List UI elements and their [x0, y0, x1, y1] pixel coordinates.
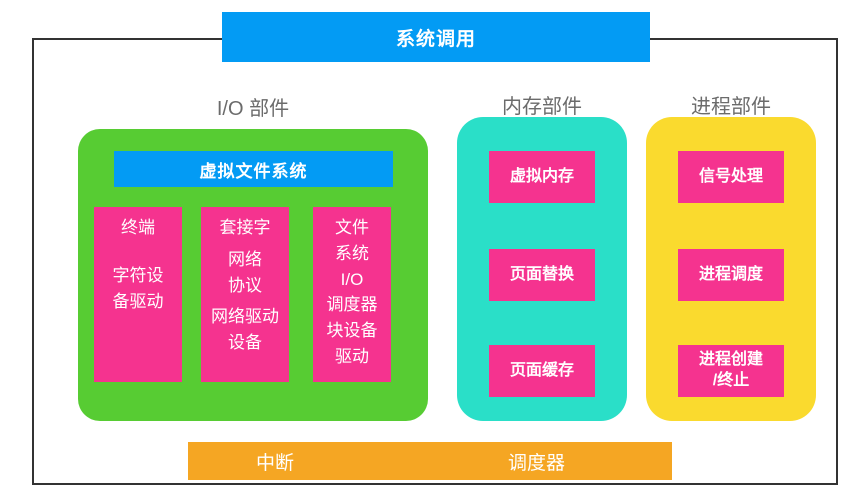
card-label: 信号处理	[699, 167, 763, 188]
page-replacement-card: 页面替换	[489, 249, 595, 301]
io-segment-label: 套接字	[201, 217, 289, 239]
scheduler-label: 调度器	[508, 448, 565, 475]
filesystem-column-card: 文件 系统 I/O 调度器 块设备 驱动	[313, 207, 391, 382]
system-call-label: 系统调用	[396, 24, 476, 51]
virtual-file-system-bar: 虚拟文件系统	[114, 151, 393, 187]
io-segment-label: 网络驱动	[201, 306, 289, 328]
memory-component-caption: 内存部件	[457, 90, 627, 119]
card-label: 页面替换	[510, 265, 574, 286]
card-label: 进程创建/终止	[699, 350, 763, 392]
interrupt-scheduler-bar: 中断 调度器	[188, 442, 672, 480]
io-segment-label: 系统	[313, 243, 391, 265]
signal-handling-card: 信号处理	[678, 151, 784, 203]
io-segment-label: I/O	[313, 269, 391, 291]
io-segment-label: 块设备	[313, 320, 391, 342]
terminal-column-card: 终端 字符设 备驱动	[94, 207, 182, 382]
process-scheduling-card: 进程调度	[678, 249, 784, 301]
card-label: 进程调度	[699, 265, 763, 286]
card-label: 页面缓存	[510, 361, 574, 382]
process-component-caption: 进程部件	[646, 90, 816, 119]
socket-column-card: 套接字 网络 协议 网络驱动 设备	[201, 207, 289, 382]
page-cache-card: 页面缓存	[489, 345, 595, 397]
io-segment-label: 终端	[94, 217, 182, 239]
diagram-canvas: 系统调用 I/O 部件 虚拟文件系统 终端 字符设 备驱动 套接字 网络 协议 …	[0, 0, 859, 500]
io-segment-label: 设备	[201, 332, 289, 354]
interrupt-label: 中断	[256, 448, 294, 475]
virtual-file-system-label: 虚拟文件系统	[200, 157, 308, 182]
io-segment-label: 调度器	[313, 294, 391, 316]
io-segment-label: 字符设	[94, 265, 182, 287]
io-component-caption: I/O 部件	[78, 92, 428, 121]
io-segment-label: 备驱动	[94, 291, 182, 313]
card-label: 虚拟内存	[510, 167, 574, 188]
virtual-memory-card: 虚拟内存	[489, 151, 595, 203]
io-segment-label: 文件	[313, 217, 391, 239]
io-segment-label: 驱动	[313, 346, 391, 368]
process-create-terminate-card: 进程创建/终止	[678, 345, 784, 397]
io-segment-label: 协议	[201, 275, 289, 297]
io-segment-label: 网络	[201, 249, 289, 271]
system-call-bar: 系统调用	[222, 12, 650, 62]
